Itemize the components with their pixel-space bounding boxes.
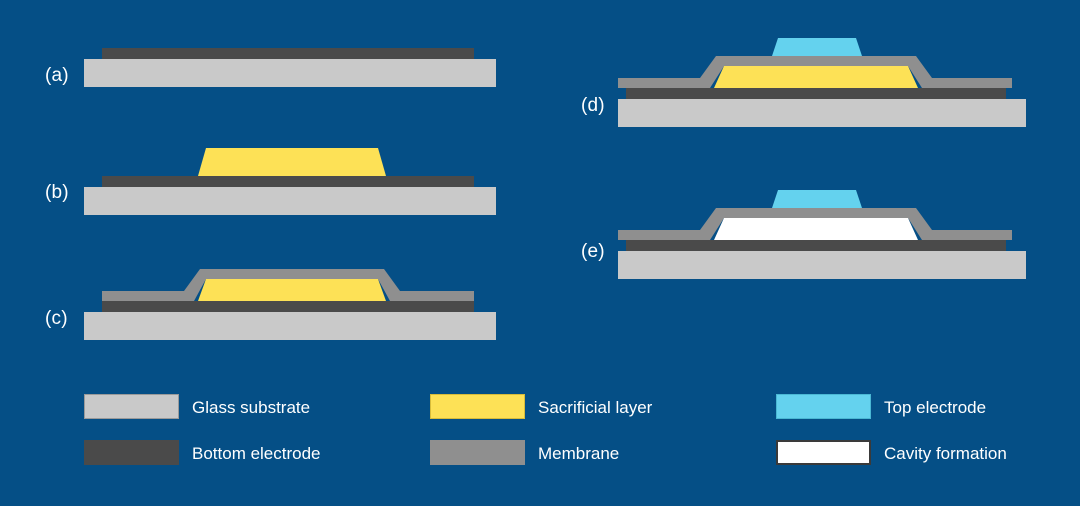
process-flow-figure: (a) (b) (c) (d) (e) <box>0 0 1080 506</box>
legend-label-bottom-electrode: Bottom electrode <box>192 444 321 464</box>
legend-swatch-membrane <box>430 440 525 465</box>
panel-label-b: (b) <box>45 182 69 204</box>
legend-swatch-sacrificial-layer <box>430 394 525 419</box>
panel-b-stack <box>84 148 496 210</box>
bottom-electrode-layer <box>102 48 474 59</box>
top-electrode-layer <box>772 190 862 208</box>
sacrificial-layer <box>198 279 386 301</box>
panel-c-stack <box>84 265 496 335</box>
legend-swatch-cavity-formation <box>776 440 871 465</box>
legend-label-cavity-formation: Cavity formation <box>884 444 1007 464</box>
legend-label-top-electrode: Top electrode <box>884 398 986 418</box>
panel-e-stack <box>618 190 1026 270</box>
legend-swatch-glass-substrate <box>84 394 179 419</box>
cavity-layer <box>714 218 918 240</box>
legend-swatch-bottom-electrode <box>84 440 179 465</box>
glass-substrate-layer <box>618 251 1026 279</box>
panel-a-stack <box>84 48 496 92</box>
bottom-electrode-layer <box>102 176 474 187</box>
glass-substrate-layer <box>618 99 1026 127</box>
panel-label-d: (d) <box>581 95 605 117</box>
legend-swatch-top-electrode <box>776 394 871 419</box>
glass-substrate-layer <box>84 59 496 87</box>
glass-substrate-layer <box>84 187 496 215</box>
bottom-electrode-layer <box>626 240 1006 251</box>
legend-label-glass-substrate: Glass substrate <box>192 398 310 418</box>
legend-label-sacrificial-layer: Sacrificial layer <box>538 398 652 418</box>
panel-d-stack <box>618 38 1026 124</box>
panel-label-e: (e) <box>581 241 605 263</box>
bottom-electrode-layer <box>102 301 474 312</box>
top-electrode-layer <box>772 38 862 56</box>
bottom-electrode-layer <box>626 88 1006 99</box>
glass-substrate-layer <box>84 312 496 340</box>
sacrificial-layer <box>198 148 386 176</box>
panel-label-c: (c) <box>45 308 68 330</box>
legend-label-membrane: Membrane <box>538 444 619 464</box>
sacrificial-layer <box>714 66 918 88</box>
panel-label-a: (a) <box>45 65 69 87</box>
